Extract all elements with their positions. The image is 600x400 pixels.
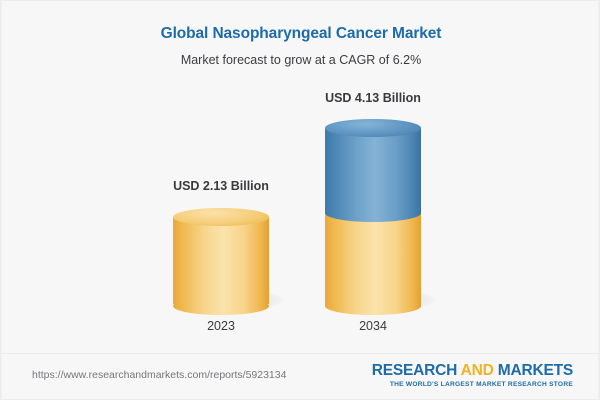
bar-value-label-2034: USD 4.13 Billion [311,91,435,105]
report-url-link[interactable]: https://www.researchandmarkets.com/repor… [32,369,286,381]
category-label-2034: 2034 [311,319,435,333]
logo-tagline: THE WORLD'S LARGEST MARKET RESEARCH STOR… [372,381,573,388]
bar-cylinder-2034 [325,119,421,306]
cylinder-segment-divider-ellipse-2034 [325,204,421,222]
cylinder-top-ellipse-2034 [325,119,421,137]
cylinder-segment-base-2034 [325,213,421,306]
bar-group-2034: USD 4.13 Billion 2034 [311,1,435,353]
chart-card: Global Nasopharyngeal Cancer Market Mark… [0,0,600,400]
cylinder-body-2023 [173,217,269,304]
cylinder-segment-growth-2034 [325,128,421,213]
bar-cylinder-2023 [173,208,269,306]
footer-divider [2,353,600,354]
bar-value-label-2023: USD 2.13 Billion [159,179,283,193]
research-and-markets-logo[interactable]: RESEARCH AND MARKETS THE WORLD'S LARGEST… [372,362,573,388]
bar-group-2023: USD 2.13 Billion 2023 [159,1,283,353]
category-label-2023: 2023 [159,319,283,333]
bar-chart-plot-area: USD 2.13 Billion 2023 USD 4.13 Billion [1,1,600,353]
logo-word-markets: MARKETS [494,362,573,379]
cylinder-top-ellipse-2023 [173,208,269,226]
logo-wordmark: RESEARCH AND MARKETS [372,362,573,380]
logo-word-research: RESEARCH [372,362,461,379]
logo-word-and: AND [461,362,494,379]
